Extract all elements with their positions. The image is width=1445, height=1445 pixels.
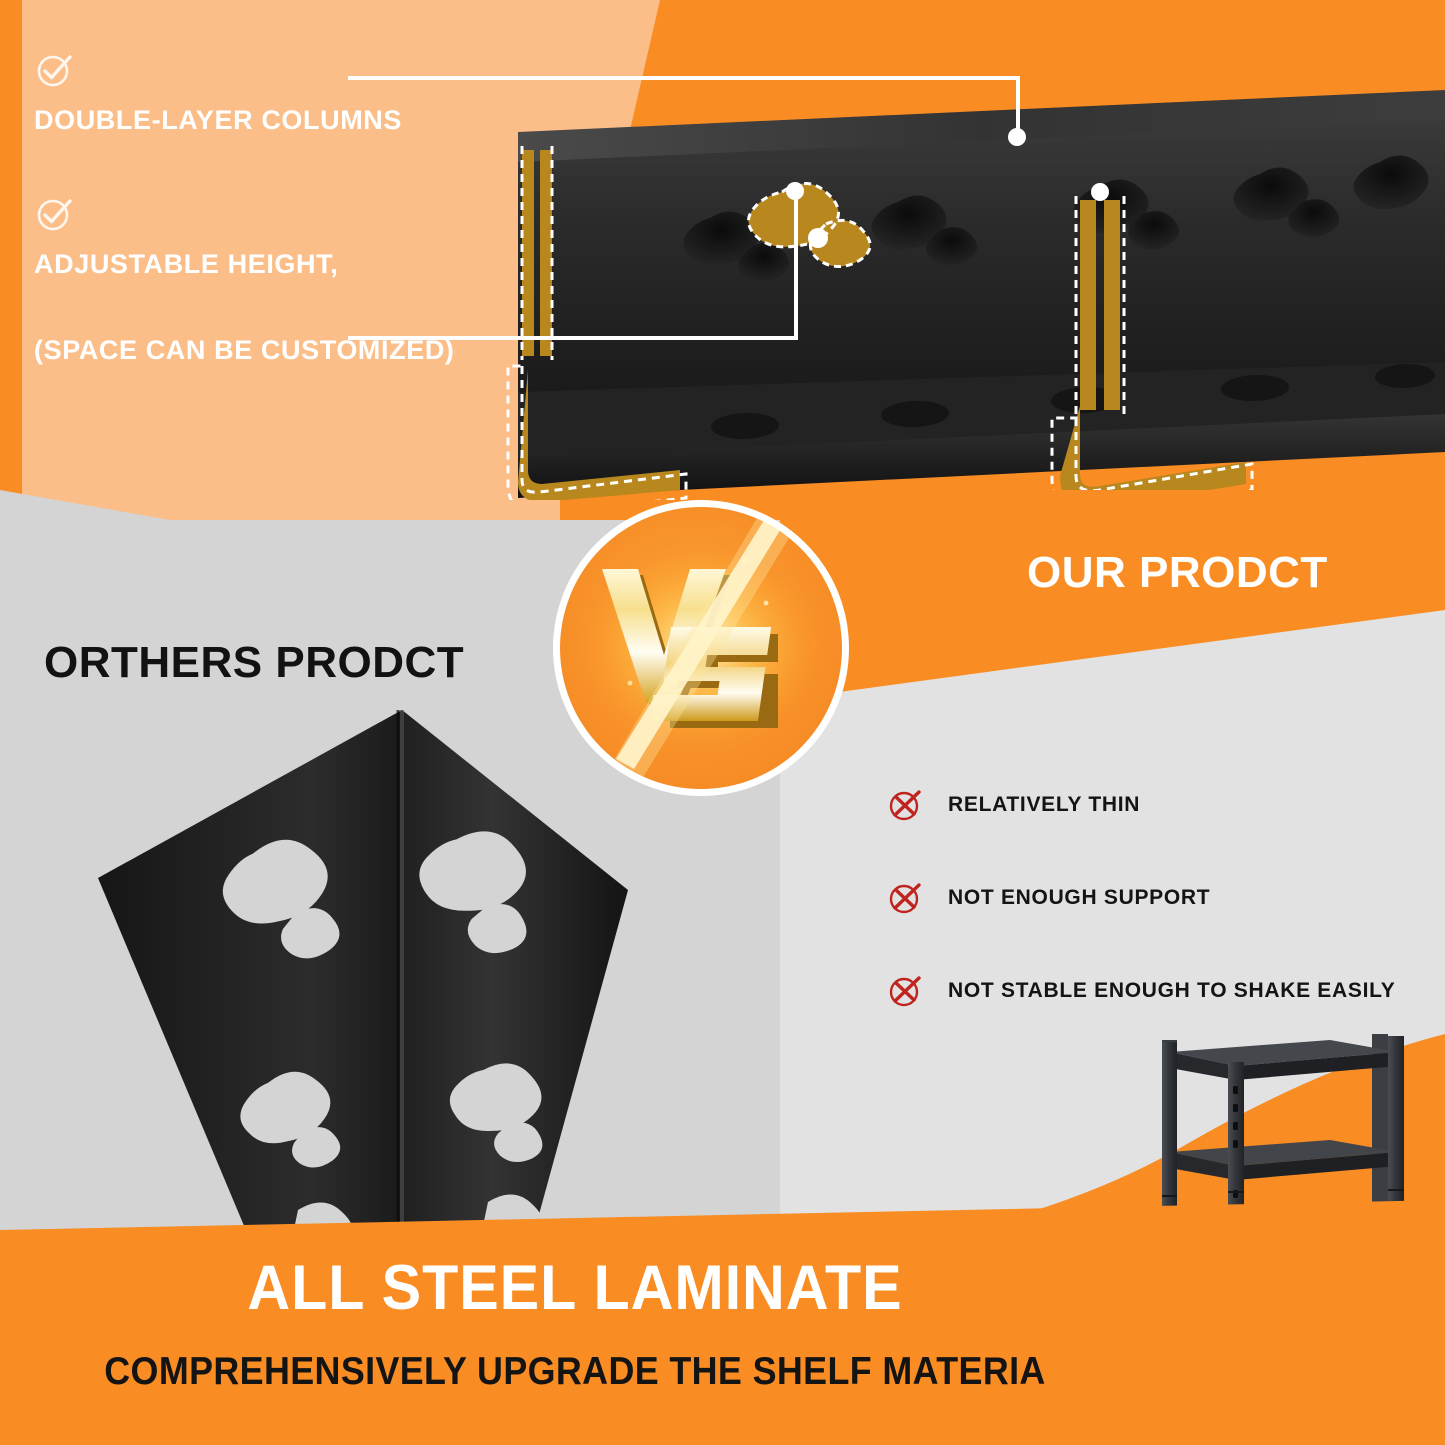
- left-orange-accent-strip: [0, 0, 22, 520]
- banner-subline: COMPREHENSIVELY UPGRADE THE SHELF MATERI…: [46, 1350, 1104, 1394]
- callout-line-middle: [348, 336, 798, 340]
- x-circle-icon: [886, 972, 924, 1010]
- callout-line-top: [348, 76, 1020, 80]
- callout-endpoint-dot: [1008, 128, 1026, 146]
- product-comparison-infographic: DOUBLE-LAYER COLUMNS ADJUSTABLE HEIGHT, …: [0, 0, 1445, 1445]
- con-item-not-enough-support: NOT ENOUGH SUPPORT: [886, 879, 1416, 917]
- banner-headline: ALL STEEL LAMINATE: [35, 1252, 1116, 1324]
- feature-item-double-layer: DOUBLE-LAYER COLUMNS: [34, 50, 534, 134]
- con-label: NOT ENOUGH SUPPORT: [948, 886, 1210, 910]
- vs-badge: [553, 500, 849, 796]
- feature-list: DOUBLE-LAYER COLUMNS ADJUSTABLE HEIGHT, …: [34, 50, 534, 380]
- callout-endpoint-dot-middle: [786, 182, 804, 200]
- others-product-title: ORTHERS PRODCT: [44, 638, 464, 688]
- con-label: RELATIVELY THIN: [948, 793, 1140, 817]
- our-product-title: OUR PRODCT: [1027, 548, 1328, 598]
- feature-label: ADJUSTABLE HEIGHT,: [34, 250, 534, 278]
- feature-label: DOUBLE-LAYER COLUMNS: [34, 106, 534, 134]
- x-circle-icon: [886, 786, 924, 824]
- check-circle-icon: [34, 50, 74, 90]
- others-product-angle-post-image: [80, 700, 640, 1240]
- steel-beam-product-image: [500, 70, 1445, 500]
- callout-line-middle-vertical: [794, 190, 798, 340]
- con-item-relatively-thin: RELATIVELY THIN: [886, 786, 1416, 824]
- x-circle-icon: [886, 879, 924, 917]
- check-circle-icon: [34, 194, 74, 234]
